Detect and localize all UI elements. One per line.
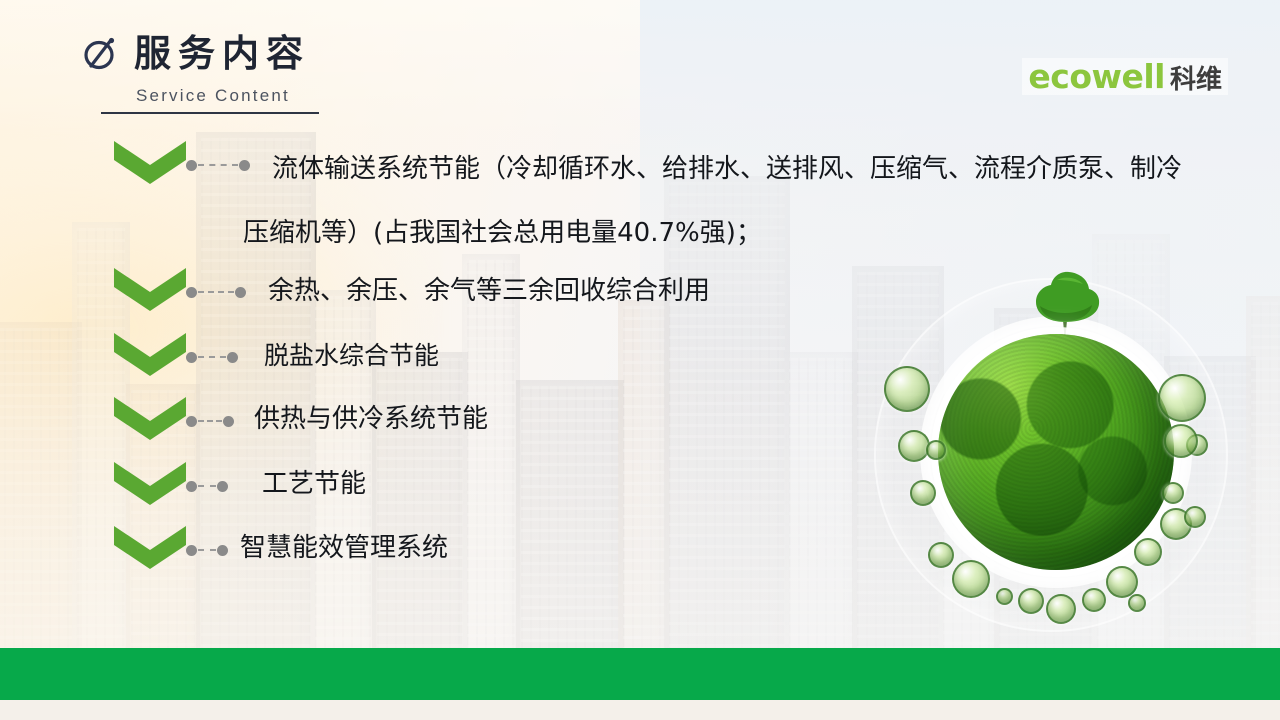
water-droplet (928, 542, 954, 568)
connector-line (186, 544, 228, 556)
connector-dot-end (217, 545, 228, 556)
connector-line (186, 159, 250, 171)
list-item-label: 余热、余压、余气等三余回收综合利用 (268, 278, 710, 304)
connector-dot-end (217, 481, 228, 492)
water-droplet (1128, 594, 1146, 612)
water-droplet (1158, 374, 1206, 422)
water-droplet (1162, 482, 1184, 504)
chevron-down-icon (114, 268, 186, 312)
chevron-down-icon (114, 462, 186, 506)
green-globe-illustration (862, 258, 1262, 648)
water-droplet (910, 480, 936, 506)
tree-icon (1022, 268, 1108, 344)
water-droplet (926, 440, 946, 460)
connector-dash (198, 420, 222, 422)
chevron-down-icon (114, 397, 186, 441)
connector-dash (198, 356, 226, 358)
connector-dot-end (235, 287, 246, 298)
list-item-label: 智慧能效管理系统 (240, 535, 448, 561)
connector-dash (198, 549, 216, 551)
list-item-label: 工艺节能 (262, 471, 366, 497)
connector-dot-start (186, 160, 197, 171)
presentation-slide: 服务内容 Service Content ecowell 科维 流体输送系统节能… (0, 0, 1280, 720)
water-droplet (952, 560, 990, 598)
connector-dash (198, 291, 234, 293)
connector-dot-start (186, 545, 197, 556)
globe-texture (938, 334, 1174, 570)
chevron-down-icon (114, 526, 186, 570)
connector-dot-end (223, 416, 234, 427)
water-droplet (1164, 424, 1198, 458)
list-item-label: 供热与供冷系统节能 (254, 406, 488, 432)
connector-dot-start (186, 416, 197, 427)
connector-line (186, 415, 234, 427)
water-droplet (1082, 588, 1106, 612)
connector-dot-end (239, 160, 250, 171)
connector-dot-start (186, 352, 197, 363)
green-globe-image (938, 334, 1174, 570)
footer-bottom-strip (0, 700, 1280, 720)
connector-dash (198, 164, 238, 166)
water-droplet (1134, 538, 1162, 566)
water-droplet (1018, 588, 1044, 614)
connector-dot-start (186, 481, 197, 492)
connector-dot-end (227, 352, 238, 363)
water-droplet (1046, 594, 1076, 624)
connector-dash (198, 485, 216, 487)
connector-line (186, 351, 238, 363)
connector-line (186, 286, 246, 298)
water-droplet (898, 430, 930, 462)
connector-dot-start (186, 287, 197, 298)
water-droplet (884, 366, 930, 412)
chevron-down-icon (114, 333, 186, 377)
list-item-label: 流体输送系统节能（冷却循环水、给排水、送排风、压缩气、流程介质泵、制冷 (272, 156, 1182, 182)
water-droplet (1106, 566, 1138, 598)
water-droplet (1184, 506, 1206, 528)
water-droplet (996, 588, 1013, 605)
connector-line (186, 480, 228, 492)
list-item-label-line2: 压缩机等）(占我国社会总用电量40.7%强)； (243, 220, 762, 246)
list-item-label: 脱盐水综合节能 (264, 343, 439, 368)
chevron-down-icon (114, 141, 186, 185)
footer-green-bar (0, 648, 1280, 700)
